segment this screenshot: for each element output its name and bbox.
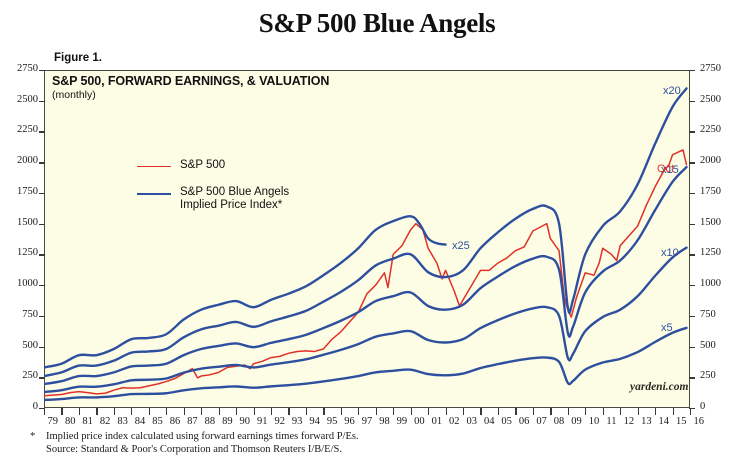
x-axis-tick: [44, 408, 45, 415]
y-axis-label-right: 1750: [700, 186, 721, 197]
x-axis-tick: [690, 408, 691, 415]
y-axis-label-left: 1500: [8, 217, 38, 228]
y-axis-label-right: 0: [700, 401, 705, 412]
legend-label-blue-angels-line1: S&P 500 Blue Angels: [180, 186, 289, 198]
curve-label-x10: x10: [661, 247, 679, 259]
legend-item-blue-angels: S&P 500 Blue Angels Implied Price Index*: [137, 186, 289, 212]
legend-label-blue-angels: S&P 500 Blue Angels Implied Price Index*: [180, 186, 289, 212]
x-axis-tick: [288, 408, 289, 415]
y-axis-label-right: 2750: [700, 63, 721, 74]
y-axis-label-left: 2000: [8, 155, 38, 166]
legend-swatch-blue-icon: [137, 193, 171, 195]
x-axis-tick: [428, 408, 429, 415]
curve-label-x25: x25: [452, 240, 470, 252]
x-axis-tick: [463, 408, 464, 415]
x-axis-tick: [219, 408, 220, 415]
y-axis-label-left: 2250: [8, 124, 38, 135]
y-axis-label-left: 1750: [8, 186, 38, 197]
x-axis-label: 16: [687, 416, 711, 427]
x-axis-tick: [393, 408, 394, 415]
x-axis-tick: [498, 408, 499, 415]
chart-legend: S&P 500 S&P 500 Blue Angels Implied Pric…: [137, 159, 289, 226]
chart-curves: [44, 70, 690, 408]
y-axis-label-left: 250: [8, 370, 38, 381]
x-axis-tick: [515, 408, 516, 415]
x-axis-tick: [323, 408, 324, 415]
x-axis-tick: [254, 408, 255, 415]
legend-label-sp500: S&P 500: [180, 159, 225, 172]
y-axis-label-right: 2000: [700, 155, 721, 166]
y-axis-label-left: 1250: [8, 247, 38, 258]
y-axis-label-right: 250: [700, 370, 716, 381]
x-axis-tick: [550, 408, 551, 415]
x-axis-tick: [620, 408, 621, 415]
series-line-blue-angels: [44, 248, 687, 392]
x-axis-tick: [114, 408, 115, 415]
y-axis-label-left: 500: [8, 340, 38, 351]
x-axis-tick: [655, 408, 656, 415]
y-axis-label-right: 1500: [700, 217, 721, 228]
x-axis-tick: [638, 408, 639, 415]
chart-page: S&P 500 Blue Angels Figure 1. S&P 500, F…: [0, 0, 754, 466]
y-axis-label-right: 2500: [700, 94, 721, 105]
x-axis-tick: [603, 408, 604, 415]
x-axis-tick: [446, 408, 447, 415]
x-axis-tick: [568, 408, 569, 415]
x-axis-tick: [480, 408, 481, 415]
curve-label-x20: x20: [663, 85, 681, 97]
y-axis-label-left: 750: [8, 309, 38, 320]
y-axis-label-left: 0: [8, 401, 38, 412]
curve-label-x5: x5: [661, 322, 673, 334]
y-axis-label-right: 500: [700, 340, 716, 351]
x-axis-tick: [149, 408, 150, 415]
x-axis-tick: [166, 408, 167, 415]
x-axis-tick: [585, 408, 586, 415]
x-axis-tick: [61, 408, 62, 415]
legend-item-sp500: S&P 500: [137, 159, 289, 172]
legend-label-blue-angels-line2: Implied Price Index*: [180, 199, 282, 211]
y-axis-label-left: 1000: [8, 278, 38, 289]
y-axis-label-right: 2250: [700, 124, 721, 135]
x-axis-tick: [79, 408, 80, 415]
curve-label-oct: Oct: [657, 163, 674, 175]
x-axis-tick: [201, 408, 202, 415]
x-axis-tick: [411, 408, 412, 415]
y-axis-label-left: 2750: [8, 63, 38, 74]
x-axis-tick: [96, 408, 97, 415]
y-axis-label-right: 1000: [700, 278, 721, 289]
footnote-star: *: [30, 430, 46, 456]
y-axis-label-right: 750: [700, 309, 716, 320]
x-axis-tick: [533, 408, 534, 415]
x-axis-tick: [131, 408, 132, 415]
watermark: yardeni.com: [630, 381, 688, 393]
x-axis-tick: [306, 408, 307, 415]
x-axis-tick: [236, 408, 237, 415]
y-axis-label-left: 2500: [8, 94, 38, 105]
legend-swatch-red-icon: [137, 166, 171, 167]
x-axis-tick: [376, 408, 377, 415]
x-axis-tick: [184, 408, 185, 415]
footnotes: * Implied price index calculated using f…: [30, 430, 730, 456]
series-line-blue-angels: [44, 88, 687, 376]
footnote-line-2: Source: Standard & Poor's Corporation an…: [46, 444, 342, 455]
footnote-line-1: Implied price index calculated using for…: [46, 431, 359, 442]
page-title: S&P 500 Blue Angels: [0, 8, 754, 39]
x-axis-tick: [673, 408, 674, 415]
x-axis-tick: [358, 408, 359, 415]
x-axis-tick: [341, 408, 342, 415]
x-axis-tick: [271, 408, 272, 415]
y-axis-label-right: 1250: [700, 247, 721, 258]
figure-label: Figure 1.: [54, 52, 102, 64]
